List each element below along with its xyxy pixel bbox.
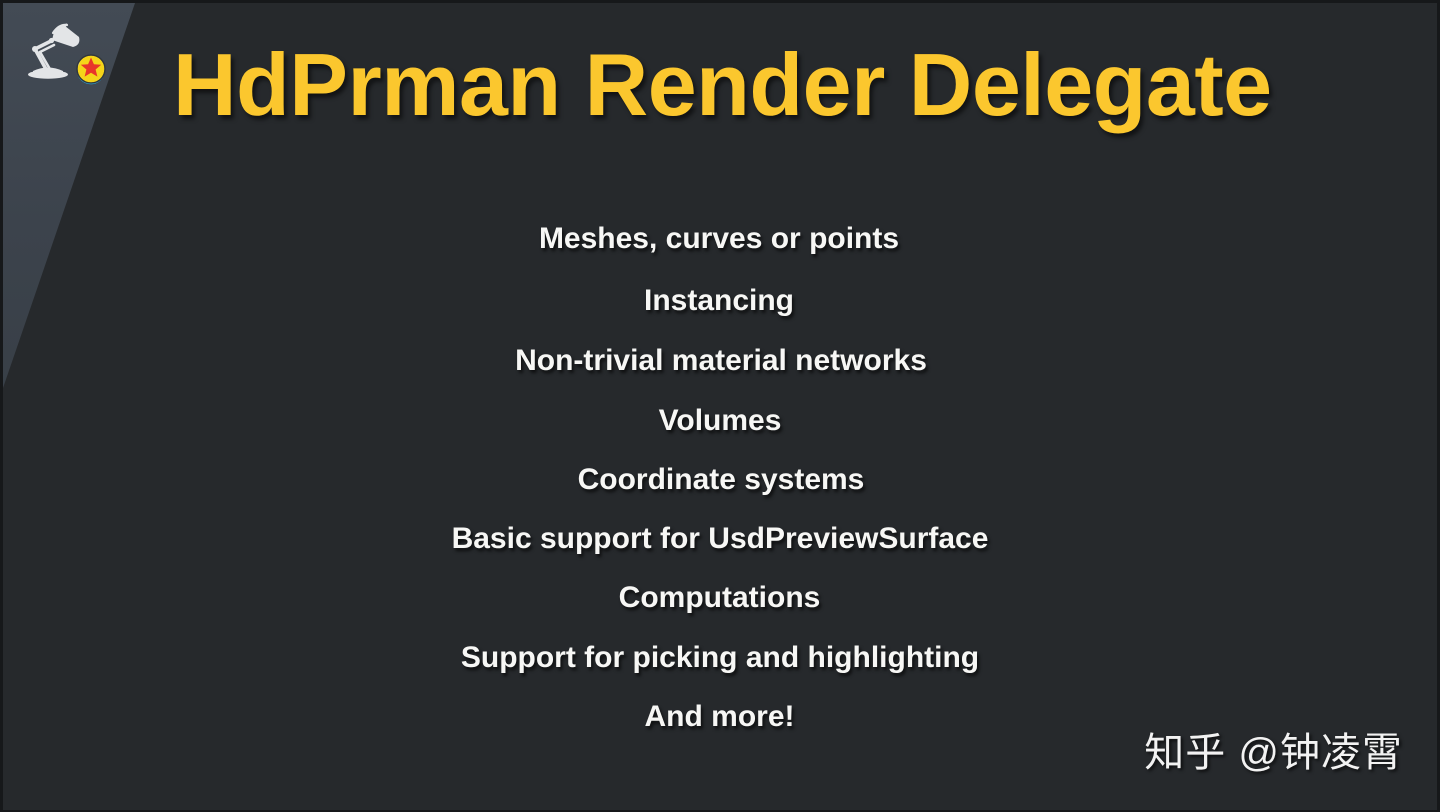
list-item: Coordinate systems xyxy=(578,465,865,495)
list-item: Meshes, curves or points xyxy=(539,224,899,254)
pixar-luxo-lamp-logo xyxy=(21,21,109,93)
feature-list: Meshes, curves or points Instancing Non-… xyxy=(3,215,1437,732)
presentation-slide: HdPrman Render Delegate Meshes, curves o… xyxy=(0,0,1440,812)
list-item: Computations xyxy=(619,583,821,613)
watermark: 知乎 @钟凌霄 xyxy=(1144,720,1403,778)
list-item: Basic support for UsdPreviewSurface xyxy=(452,524,989,554)
list-item: Instancing xyxy=(644,286,794,316)
lamp-icon xyxy=(28,25,79,79)
page-title: HdPrman Render Delegate xyxy=(173,39,1272,131)
list-item: Volumes xyxy=(659,406,782,436)
list-item: And more! xyxy=(645,702,795,732)
pixar-ball-icon xyxy=(77,55,105,84)
list-item: Non-trivial material networks xyxy=(515,346,927,376)
list-item: Support for picking and highlighting xyxy=(461,643,979,673)
